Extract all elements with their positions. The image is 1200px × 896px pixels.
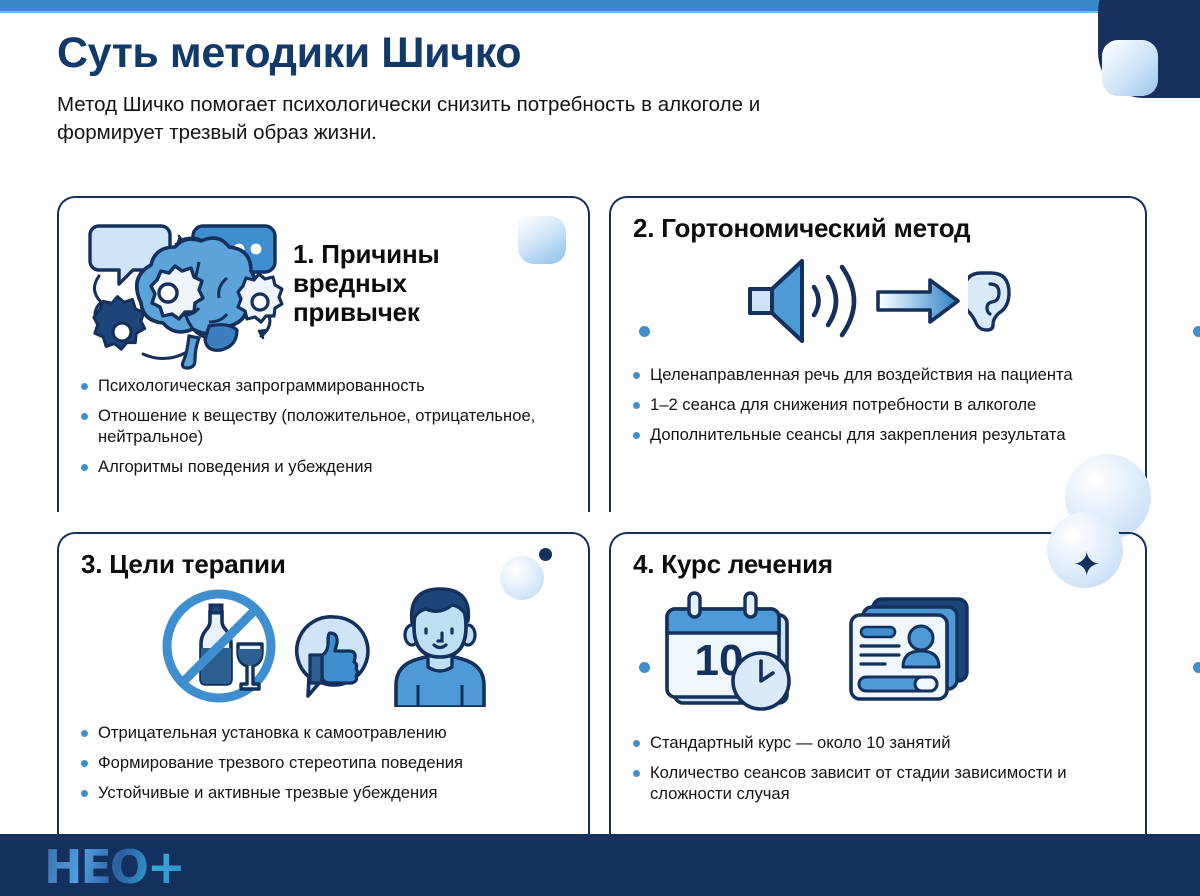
list-item: Психологическая запрограммированность [81, 376, 568, 397]
card-title: 1. Причины вредных привычек [293, 240, 523, 327]
card-therapy-goals[interactable]: 3. Цели терапии [57, 532, 590, 844]
top-accent-bar [0, 0, 1102, 11]
list-item: Устойчивые и активные трезвые убеждения [81, 783, 568, 804]
list-item: Количество сеансов зависит от стадии зав… [633, 763, 1125, 805]
speaker-arrow-ear-icon [633, 253, 1125, 349]
list-item: Отношение к веществу (положительное, отр… [81, 406, 568, 448]
card-bullet-list: Психологическая запрограммированность От… [81, 376, 568, 478]
decorative-accent-dot [1193, 662, 1200, 673]
decorative-light-square [1102, 40, 1158, 96]
infographic-page: Суть методики Шичко Метод Шичко помогает… [0, 0, 1200, 896]
list-item: Целенаправленная речь для воздействия на… [633, 365, 1125, 386]
top-accent-bar-highlight [0, 11, 1102, 13]
decorative-dot [539, 548, 552, 561]
sparkle-icon: ✦ [1073, 548, 1102, 582]
decorative-accent-dot [639, 326, 650, 337]
card-title: 2. Гортономический метод [633, 214, 1125, 243]
page-title: Суть методики Шичко [57, 30, 857, 77]
card-bullet-list: Целенаправленная речь для воздействия на… [633, 365, 1125, 446]
list-item: Дополнительные сеансы для закрепления ре… [633, 425, 1125, 446]
card-bullet-list: Стандартный курс — около 10 занятий Коли… [633, 733, 1125, 805]
no-alcohol-thumbsup-person-icon [81, 585, 568, 707]
card-hortonomic-method[interactable]: 2. Гортономический метод [609, 196, 1147, 512]
decorative-square [518, 216, 566, 264]
brand-logo-text: HEO [44, 840, 147, 894]
list-item: Формирование трезвого стереотипа поведен… [81, 753, 568, 774]
decorative-circle [500, 556, 544, 600]
page-subtitle: Метод Шичко помогает психологически сниз… [57, 91, 797, 146]
list-item: Отрицательная установка к самоотравлению [81, 723, 568, 744]
card-bullet-list: Отрицательная установка к самоотравлению… [81, 723, 568, 804]
list-item: Стандартный курс — около 10 занятий [633, 733, 1125, 754]
brand-logo: HEO+ [44, 840, 184, 894]
decorative-accent-dot [1193, 326, 1200, 337]
decorative-accent-dot [639, 662, 650, 673]
brand-logo-plus: + [147, 840, 184, 894]
footer-bar: HEO+ [0, 834, 1200, 896]
list-item: Алгоритмы поведения и убеждения [81, 457, 568, 478]
brain-gears-speech-bubbles-icon [81, 218, 287, 370]
card-title: 3. Цели терапии [81, 550, 568, 579]
card-treatment-course[interactable]: ✦ 4. Курс лечения 1 [609, 532, 1147, 844]
cards-grid: 1. Причины вредных привычек Психологичес… [57, 196, 1147, 844]
list-item: 1–2 сеанса для снижения потребности в ал… [633, 395, 1125, 416]
card-causes[interactable]: 1. Причины вредных привычек Психологичес… [57, 196, 590, 512]
header: Суть методики Шичко Метод Шичко помогает… [57, 30, 857, 147]
calendar-clock-cards-icon: 10 [665, 589, 1125, 717]
